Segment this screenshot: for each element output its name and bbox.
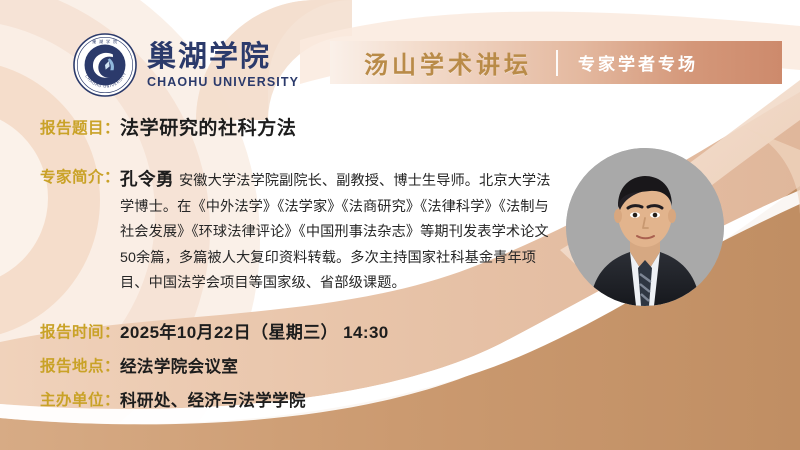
host-organization-row: 主办单位： 科研处、经济与法学学院 xyxy=(40,390,306,412)
speaker-bio-text: 安徽大学法学院副院长、副教授、博士生导师。北京大学法学博士。在《中外法学》《法学… xyxy=(120,173,550,291)
host-organization-value: 科研处、经济与法学学院 xyxy=(120,390,306,412)
report-place-value: 经法学院会议室 xyxy=(120,356,238,378)
speaker-bio-row: 专家简介： 孔令勇安徽大学法学院副院长、副教授、博士生导师。北京大学法学博士。在… xyxy=(40,166,560,297)
report-place-label: 报告地点： xyxy=(40,356,120,378)
report-title-value: 法学研究的社科方法 xyxy=(120,118,296,140)
speaker-name: 孔令勇 xyxy=(120,169,174,189)
report-title-label: 报告题目： xyxy=(40,118,120,140)
report-place-row: 报告地点： 经法学院会议室 xyxy=(40,356,238,378)
lecture-poster: 巢 湖 学 院 CHAOHU UNIVERSITY 巢湖学院 CHAOHU UN… xyxy=(0,0,800,450)
speaker-bio-label: 专家简介： xyxy=(40,166,120,189)
speaker-portrait-photo xyxy=(566,148,724,306)
speaker-portrait xyxy=(566,148,724,306)
report-time-value: 2025年10月22日（星期三） 14:30 xyxy=(120,322,389,344)
host-organization-label: 主办单位： xyxy=(40,390,120,412)
report-time-label: 报告时间： xyxy=(40,322,120,344)
speaker-bio-body: 孔令勇安徽大学法学院副院长、副教授、博士生导师。北京大学法学博士。在《中外法学》… xyxy=(120,166,560,297)
report-time-row: 报告时间： 2025年10月22日（星期三） 14:30 xyxy=(40,322,389,344)
report-title-row: 报告题目： 法学研究的社科方法 xyxy=(40,118,296,140)
